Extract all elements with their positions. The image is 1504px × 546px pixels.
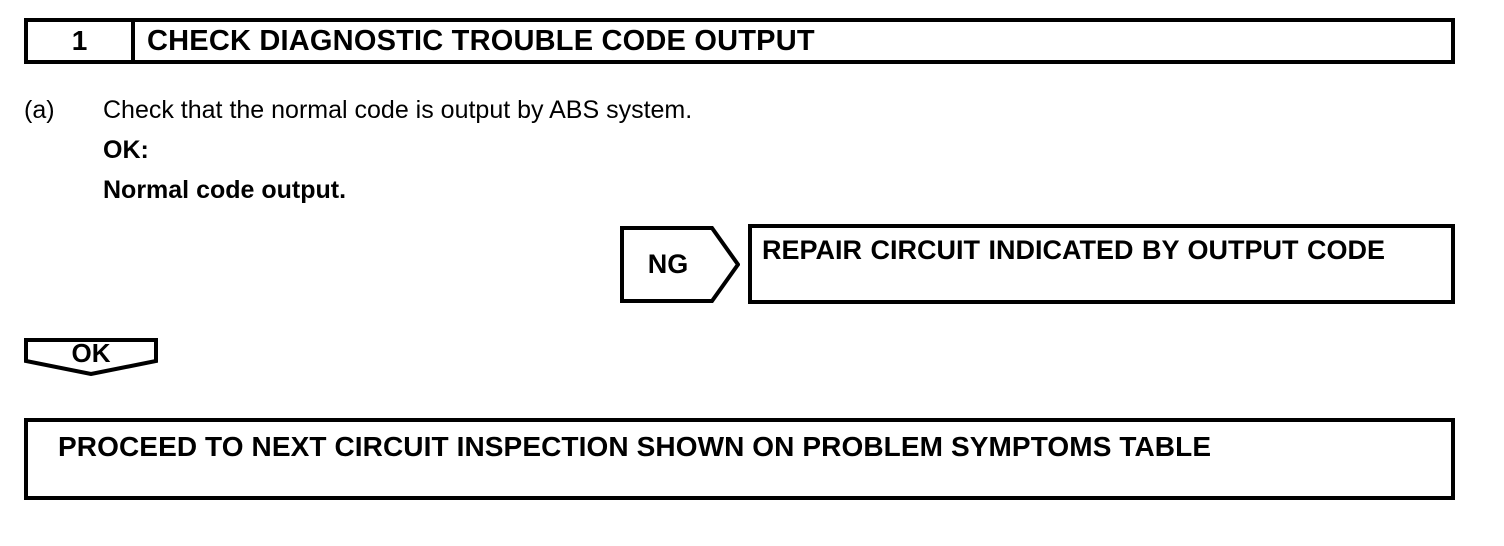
instruction-block: (a) Check that the normal code is output… [24, 94, 924, 214]
repair-action-text: REPAIR CIRCUIT INDICATED BY OUTPUT CODE [762, 234, 1441, 267]
step-title-cell: CHECK DIAGNOSTIC TROUBLE CODE OUTPUT [135, 22, 1451, 60]
step-title: CHECK DIAGNOSTIC TROUBLE CODE OUTPUT [147, 27, 815, 56]
ng-branch-arrow: NG [620, 226, 740, 303]
instruction-item: Normal code output. [24, 174, 924, 214]
instruction-item: OK: [24, 134, 924, 174]
instruction-ok-label: OK: [103, 134, 149, 167]
instruction-item: (a) Check that the normal code is output… [24, 94, 924, 134]
step-number: 1 [72, 27, 88, 55]
ng-branch-label: NG [620, 226, 716, 303]
instruction-marker: (a) [24, 94, 103, 127]
ok-branch-arrow: OK [24, 338, 158, 376]
outcome-box: PROCEED TO NEXT CIRCUIT INSPECTION SHOWN… [24, 418, 1455, 500]
step-header: 1 CHECK DIAGNOSTIC TROUBLE CODE OUTPUT [24, 18, 1455, 64]
repair-action-box: REPAIR CIRCUIT INDICATED BY OUTPUT CODE [748, 224, 1455, 304]
ok-branch-label: OK [24, 338, 158, 368]
instruction-text: Check that the normal code is output by … [103, 94, 692, 127]
outcome-text: PROCEED TO NEXT CIRCUIT INSPECTION SHOWN… [58, 430, 1451, 464]
step-number-cell: 1 [28, 22, 135, 60]
instruction-ok-condition: Normal code output. [103, 174, 346, 207]
